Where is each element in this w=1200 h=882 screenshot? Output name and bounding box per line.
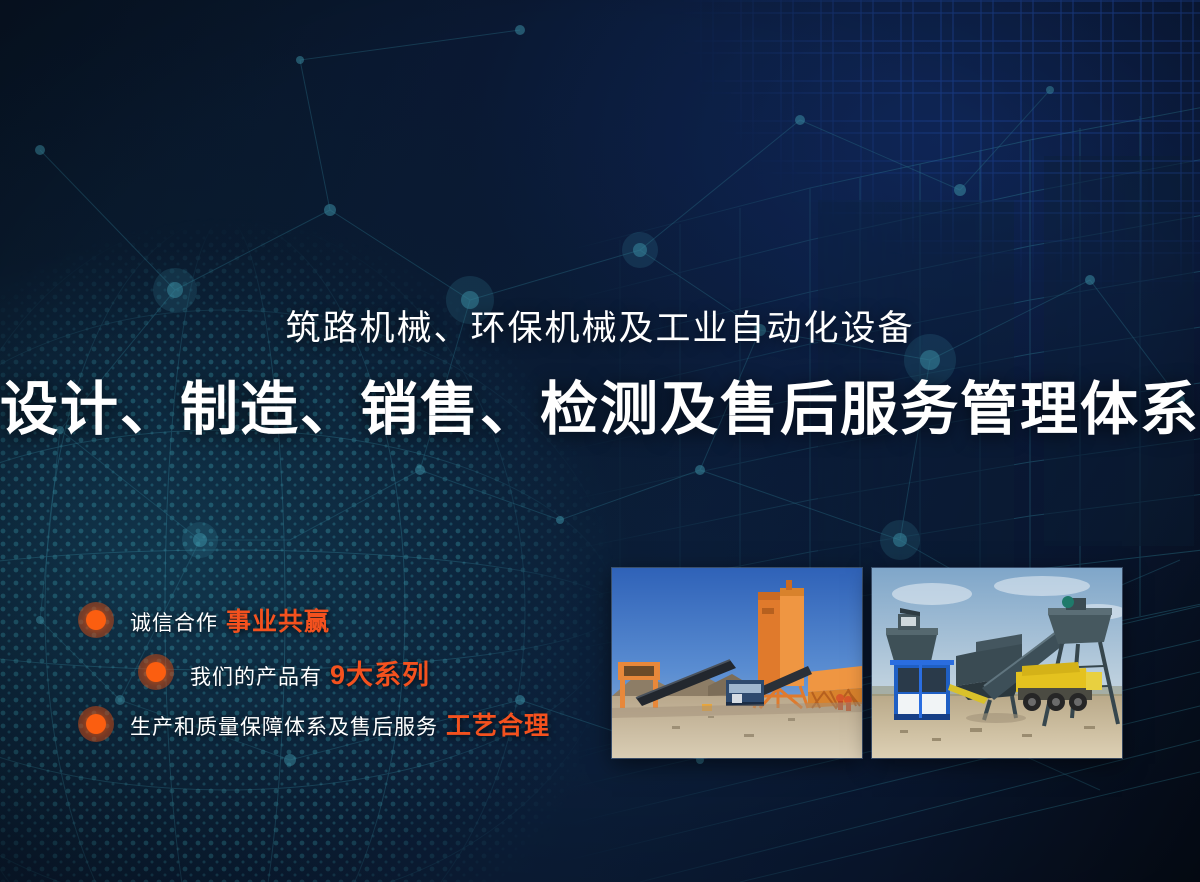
bullet-dot-icon — [78, 602, 114, 638]
list-item: 诚信合作事业共赢 — [78, 596, 598, 644]
mobile-mixing-plant-photo — [872, 568, 1122, 758]
bullet-text: 生产和质量保障体系及售后服务工艺合理 — [130, 706, 550, 742]
bullet-highlight-text: 9大系列 — [330, 660, 430, 690]
promo-banner: 筑路机械、环保机械及工业自动化设备 设计、制造、销售、检测及售后服务管理体系 诚… — [0, 0, 1200, 882]
bullet-text: 诚信合作事业共赢 — [130, 602, 330, 638]
bullet-lead-text: 我们的产品有 — [190, 666, 322, 689]
bullet-dot-icon — [138, 654, 174, 690]
square-grid-decoration — [660, 0, 1200, 330]
bullet-highlight-text: 工艺合理 — [446, 712, 550, 740]
bullet-dot-icon — [78, 706, 114, 742]
bullet-highlight-text: 事业共赢 — [226, 608, 330, 636]
list-item: 生产和质量保障体系及售后服务工艺合理 — [78, 700, 598, 748]
banner-headline: 设计、制造、销售、检测及售后服务管理体系 — [0, 362, 1200, 446]
banner-subtitle: 筑路机械、环保机械及工业自动化设备 — [0, 300, 1200, 351]
list-item: 我们的产品有9大系列 — [78, 648, 598, 696]
bullet-text: 我们的产品有9大系列 — [190, 653, 430, 692]
feature-bullet-list: 诚信合作事业共赢 我们的产品有9大系列 生产和质量保障体系及售后服务工艺合理 — [78, 596, 598, 752]
bullet-lead-text: 生产和质量保障体系及售后服务 — [130, 716, 438, 739]
concrete-batching-plant-photo — [612, 568, 862, 758]
bullet-lead-text: 诚信合作 — [130, 612, 218, 635]
